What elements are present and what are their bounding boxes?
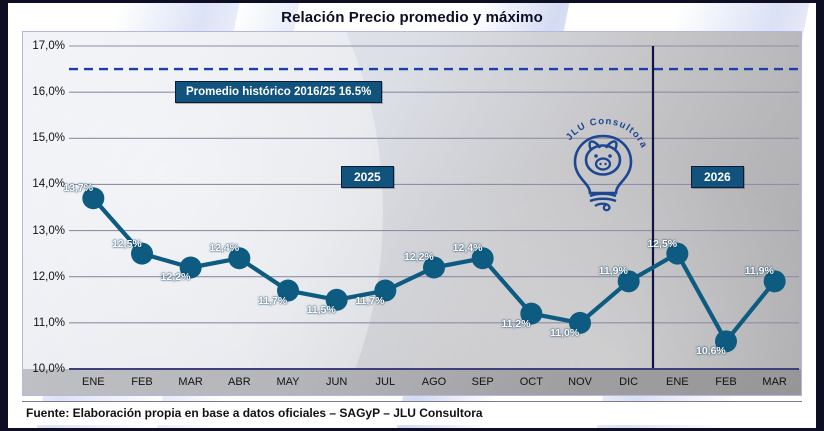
series-markers — [82, 187, 785, 352]
x-axis-tick-label: OCT — [504, 376, 558, 388]
x-axis-tick-label: DIC — [602, 376, 656, 388]
x-axis-tick-label: SEP — [456, 376, 510, 388]
chart-canvas — [23, 32, 802, 396]
y-axis-tick-label: 11,0% — [22, 317, 65, 329]
chart-title: Relación Precio promedio y máximo — [8, 7, 816, 29]
data-point-label: 12,5% — [647, 238, 677, 250]
chart-screenshot: Relación Precio promedio y máximo 17,0%1… — [0, 0, 824, 431]
y-axis-tick-label: 15,0% — [22, 132, 65, 144]
data-point-label: 11,5% — [307, 304, 336, 316]
source-footer: Fuente: Elaboración propia en base a dat… — [22, 401, 802, 425]
data-point-label: 11,7% — [258, 295, 287, 307]
plot-area: 17,0%16,0%15,0%14,0%13,0%12,0%11,0%10,0%… — [22, 31, 802, 396]
data-point-label: 12,4% — [209, 242, 239, 254]
data-point-label: 13,7% — [63, 182, 93, 194]
y-axis-tick-label: 10,0% — [22, 363, 65, 375]
data-point-label: 11,0% — [550, 327, 579, 339]
year-label-2025: 2025 — [341, 166, 394, 188]
x-axis-tick-label: AGO — [407, 376, 461, 388]
x-axis-tick-label: ABR — [212, 376, 266, 388]
x-axis-tick-label: JUN — [310, 376, 364, 388]
data-point-label: 11,9% — [599, 265, 628, 277]
average-callout: Promedio histórico 2016/25 16.5% — [175, 81, 382, 103]
data-point-label: 11,9% — [745, 265, 774, 277]
y-axis-tick-label: 12,0% — [22, 271, 65, 283]
y-axis-tick-label: 14,0% — [22, 178, 65, 190]
x-axis-tick-label: ENE — [650, 376, 704, 388]
x-axis-tick-label: MAY — [261, 376, 315, 388]
data-point-label: 10,6% — [696, 345, 726, 357]
x-axis-tick-label: MAR — [748, 376, 802, 388]
data-point-label: 11,7% — [355, 295, 384, 307]
chart-card: Relación Precio promedio y máximo 17,0%1… — [8, 3, 816, 428]
y-axis-tick-label: 17,0% — [22, 40, 65, 52]
x-axis-tick-label: ENE — [66, 376, 120, 388]
x-axis-tick-label: FEB — [115, 376, 169, 388]
x-axis-tick-label: NOV — [553, 376, 607, 388]
y-axis-tick-label: 16,0% — [22, 86, 65, 98]
x-axis-tick-label: MAR — [164, 376, 218, 388]
data-point-label: 11,2% — [501, 318, 530, 330]
x-axis-tick-label: FEB — [699, 376, 753, 388]
data-point-label: 12,2% — [404, 251, 434, 263]
data-point-label: 12,5% — [112, 238, 142, 250]
year-label-2026: 2026 — [691, 166, 744, 188]
data-point-label: 12,2% — [161, 271, 191, 283]
data-point-label: 12,4% — [453, 242, 483, 254]
y-axis-tick-label: 13,0% — [22, 225, 65, 237]
x-axis-tick-label: JUL — [358, 376, 412, 388]
